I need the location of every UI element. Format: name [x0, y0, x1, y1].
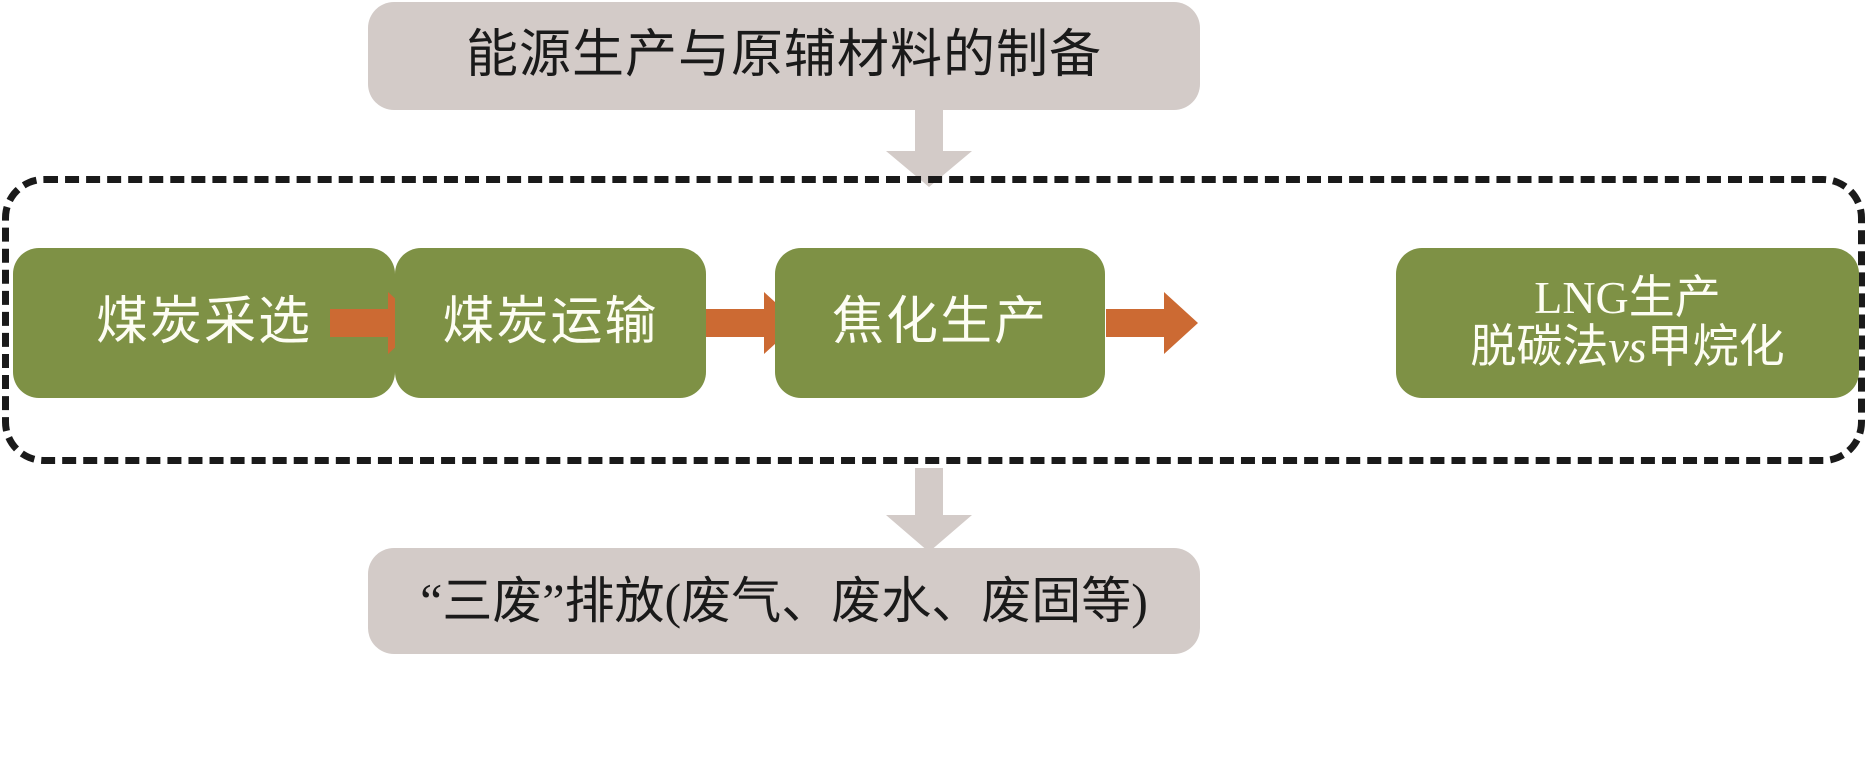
waste-emissions-box: “三废”排放(废气、废水、废固等)	[368, 548, 1200, 654]
process-step-coal-transport[interactable]: 煤炭运输	[395, 248, 706, 398]
arrow-down-icon-title-to-container	[886, 105, 972, 187]
process-step-coking-production[interactable]: 焦化生产	[775, 248, 1105, 398]
process-step-lng-production[interactable]: LNG生产 脱碳法vs甲烷化	[1396, 248, 1859, 398]
arrow-down-icon-container-to-outputs	[886, 468, 972, 552]
process-step-label-lng-production: LNG生产 脱碳法vs甲烷化	[1470, 274, 1784, 372]
process-step-label-coking-production: 焦化生产	[832, 295, 1048, 350]
lng-line-2-part-1: 脱碳法	[1470, 321, 1608, 372]
waste-emissions-label: “三废”排放(废气、废水、废固等)	[420, 574, 1148, 629]
energy-production-title-box: 能源生产与原辅材料的制备	[368, 2, 1200, 110]
arrow-right-icon-step-3-to-4	[1106, 292, 1198, 354]
lng-line-2: 脱碳法vs甲烷化	[1470, 323, 1784, 372]
diagram-canvas: 能源生产与原辅材料的制备 煤炭采选 煤炭运输 焦化生产 LNG生产	[0, 0, 1871, 776]
lng-line-2-vs: vs	[1608, 321, 1646, 372]
lng-line-1: LNG生产	[1534, 272, 1721, 323]
process-step-label-coal-mining: 煤炭采选	[96, 295, 312, 350]
lng-line-2-part-2: 甲烷化	[1647, 321, 1785, 372]
process-step-label-coal-transport: 煤炭运输	[442, 295, 658, 350]
energy-production-title-label: 能源生产与原辅材料的制备	[466, 27, 1102, 84]
